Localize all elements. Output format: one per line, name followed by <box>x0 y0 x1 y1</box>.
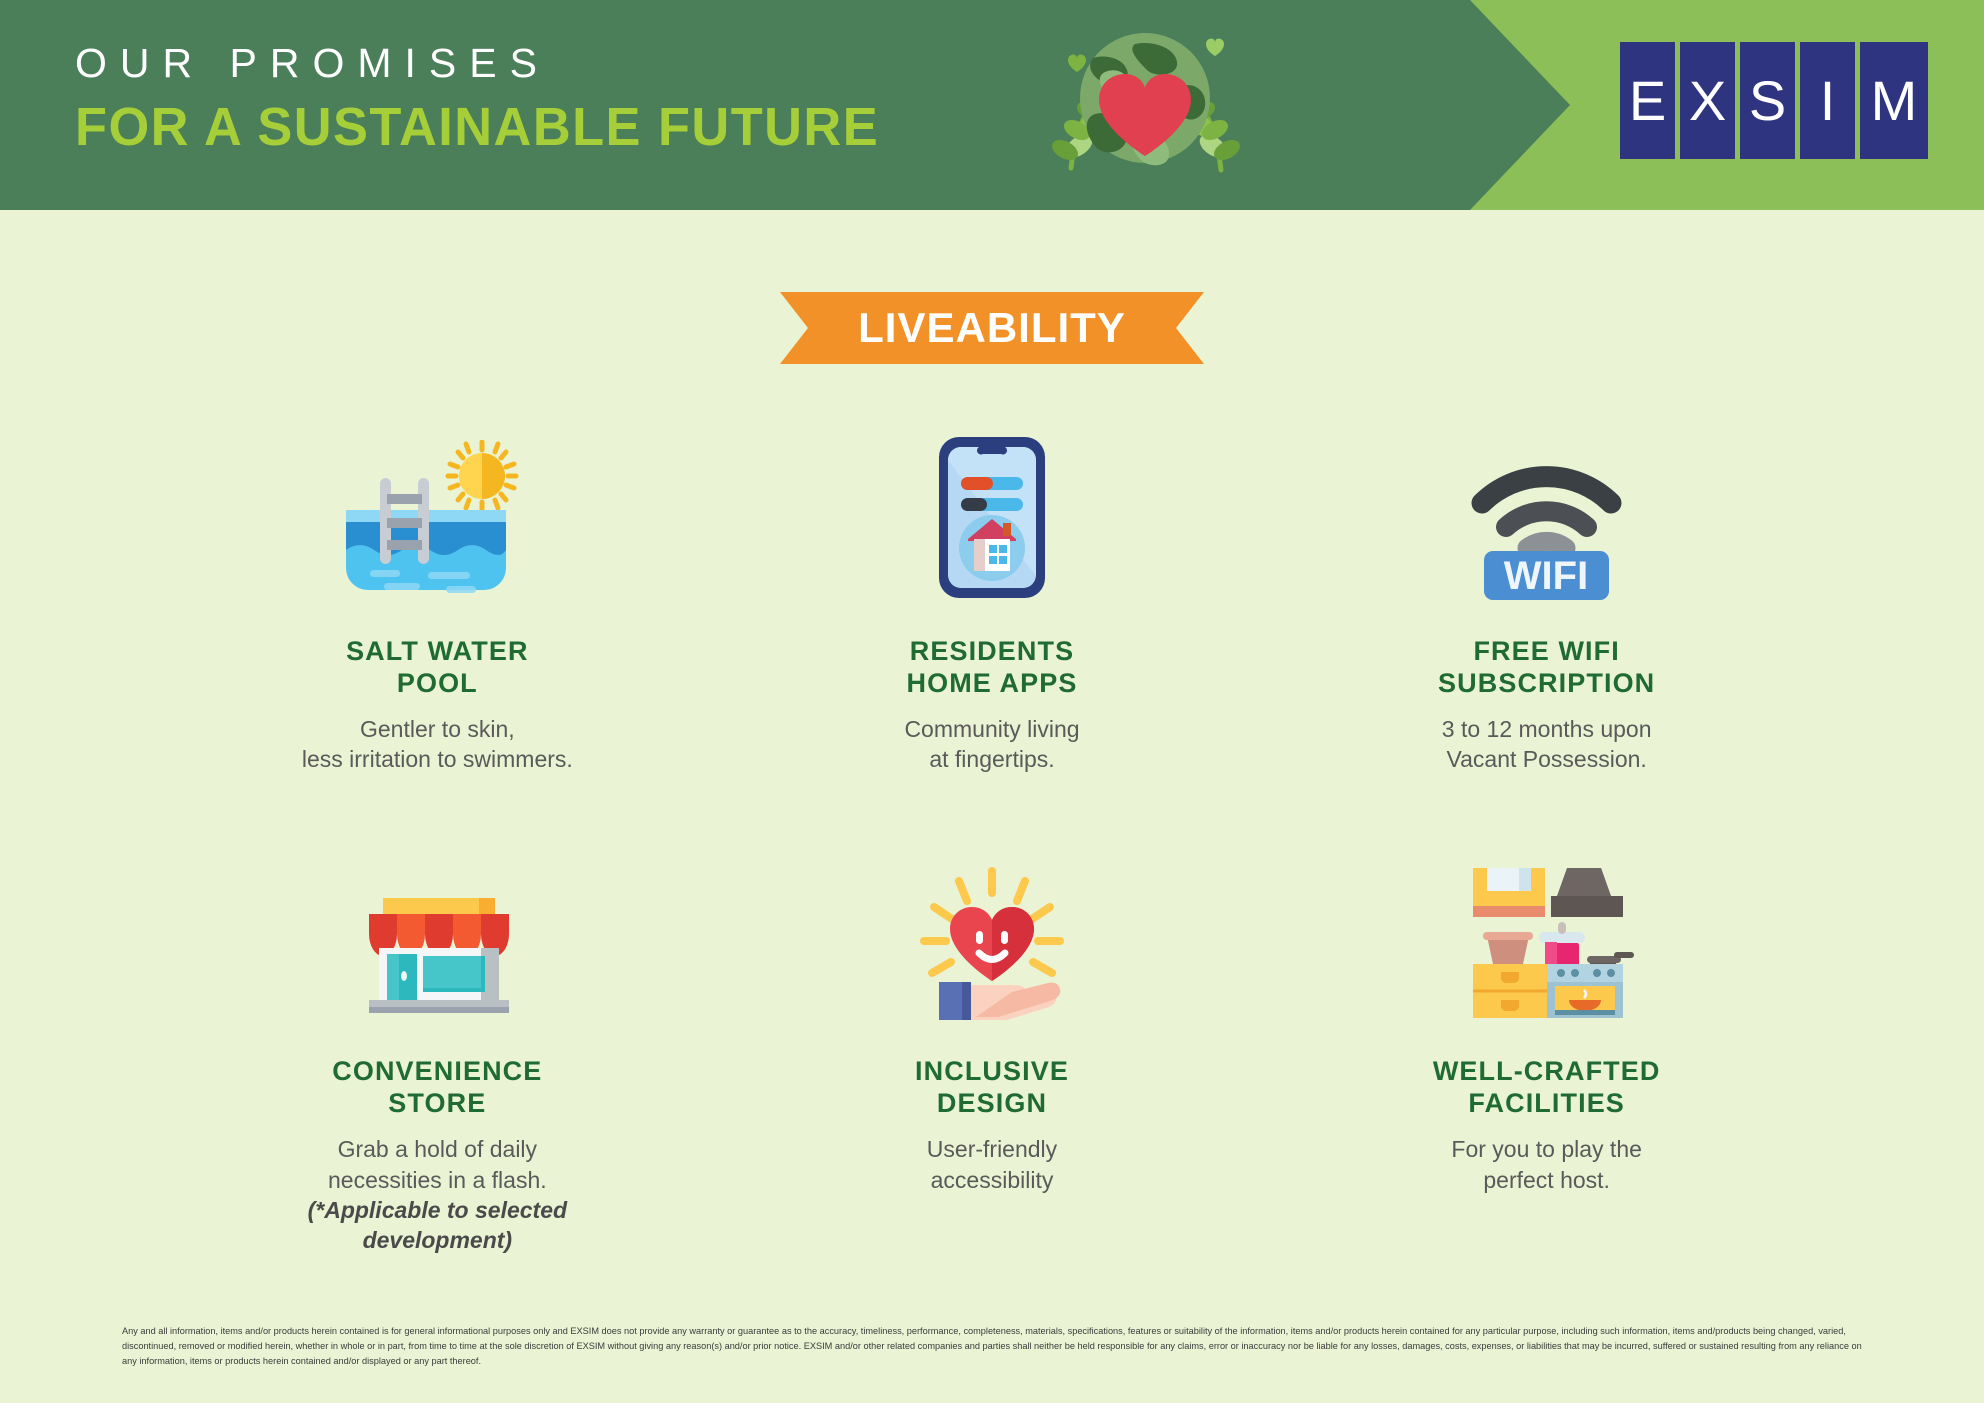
card-title: SALT WATER POOL <box>346 636 528 700</box>
banner-label: LIVEABILITY <box>858 304 1126 352</box>
convenience-store-icon <box>347 850 527 1020</box>
card-description: User-friendly accessibility <box>927 1134 1057 1195</box>
card-salt-water-pool: SALT WATER POOL Gentler to skin, less ir… <box>160 430 715 774</box>
liveability-banner: LIVEABILITY <box>780 292 1204 364</box>
card-description: Community living at fingertips. <box>904 714 1079 775</box>
kitchen-facilities-icon <box>1459 850 1634 1020</box>
swimming-pool-icon <box>342 430 532 600</box>
logo-letter-e: E <box>1620 42 1675 159</box>
card-description: 3 to 12 months upon Vacant Possession. <box>1442 714 1652 775</box>
page-title-primary: OUR PROMISES <box>75 38 904 89</box>
logo-letter-i: I <box>1800 42 1855 159</box>
card-note: (*Applicable to selected development) <box>308 1195 567 1256</box>
card-well-crafted-facilities: WELL-CRAFTED FACILITIES For you to play … <box>1269 850 1824 1255</box>
card-description: For you to play the perfect host. <box>1451 1134 1642 1195</box>
card-title: RESIDENTS HOME APPS <box>907 636 1078 700</box>
globe-heart-icon <box>1035 18 1255 183</box>
card-title: INCLUSIVE DESIGN <box>915 1056 1069 1120</box>
card-title: FREE WIFI SUBSCRIPTION <box>1438 636 1655 700</box>
card-residents-home-apps: RESIDENTS HOME APPS Community living at … <box>715 430 1270 774</box>
header-title-group: OUR PROMISES FOR A SUSTAINABLE FUTURE <box>75 38 904 160</box>
card-description: Grab a hold of daily necessities in a fl… <box>328 1134 547 1195</box>
heart-in-hand-icon <box>904 850 1079 1020</box>
disclaimer-text: Any and all information, items and/or pr… <box>122 1324 1862 1370</box>
card-convenience-store: CONVENIENCE STORE Grab a hold of daily n… <box>160 850 715 1255</box>
card-free-wifi-subscription: WIFI FREE WIFI SUBSCRIPTION 3 to 12 mont… <box>1269 430 1824 774</box>
page-title-secondary: FOR A SUSTAINABLE FUTURE <box>75 95 879 160</box>
mobile-home-app-icon <box>937 430 1047 600</box>
card-inclusive-design: INCLUSIVE DESIGN User-friendly accessibi… <box>715 850 1270 1255</box>
logo-letter-s: S <box>1740 42 1795 159</box>
promises-grid: SALT WATER POOL Gentler to skin, less ir… <box>160 430 1824 1256</box>
logo-letter-m: M <box>1860 42 1928 159</box>
exsim-logo: E X S I M <box>1620 42 1928 159</box>
card-title: WELL-CRAFTED FACILITIES <box>1433 1056 1661 1120</box>
page-header: OUR PROMISES FOR A SUSTAINABLE FUTURE <box>0 0 1984 210</box>
card-title: CONVENIENCE STORE <box>332 1056 542 1120</box>
wifi-icon: WIFI <box>1464 430 1629 600</box>
logo-letter-x: X <box>1680 42 1735 159</box>
card-description: Gentler to skin, less irritation to swim… <box>302 714 573 775</box>
svg-text:WIFI: WIFI <box>1504 554 1588 598</box>
